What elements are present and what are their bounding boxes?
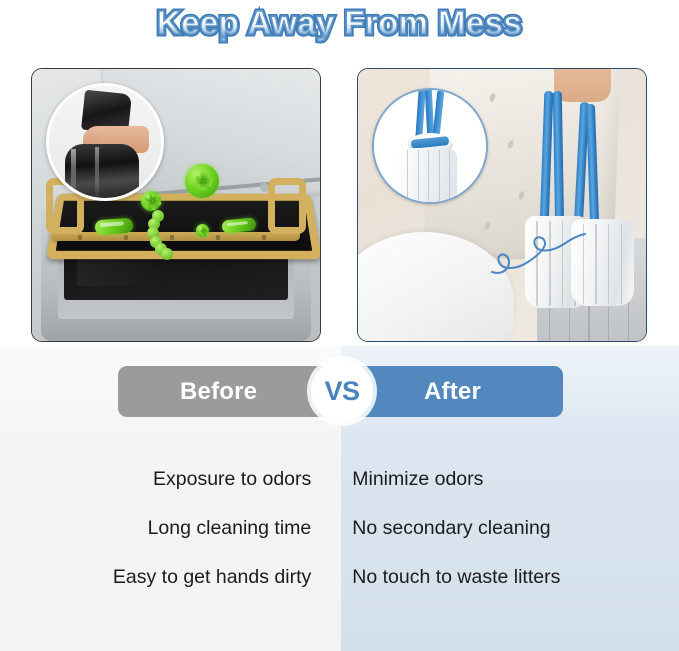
vs-label: VS bbox=[324, 376, 359, 407]
table-row: Exposure to odors Minimize odors bbox=[0, 455, 679, 504]
curly-connector-line bbox=[490, 232, 586, 276]
before-photo-card bbox=[31, 68, 321, 342]
before-label: Before bbox=[180, 378, 257, 406]
before-cell: Long cleaning time bbox=[0, 504, 330, 553]
germ-icon bbox=[185, 164, 219, 198]
after-cell: No secondary cleaning bbox=[330, 504, 679, 553]
after-cell: Minimize odors bbox=[330, 455, 679, 504]
before-cell: Easy to get hands dirty bbox=[0, 553, 330, 602]
table-row: Easy to get hands dirty No touch to wast… bbox=[0, 553, 679, 602]
after-photo-card bbox=[357, 68, 647, 342]
before-cell: Exposure to odors bbox=[0, 455, 330, 504]
comparison-table: Exposure to odors Minimize odors Long cl… bbox=[0, 455, 679, 602]
vs-badge: VS bbox=[311, 360, 373, 422]
page-title: Keep Away From Mess Keep Away From Mess bbox=[0, 0, 679, 46]
after-label: After bbox=[424, 378, 481, 406]
after-inset-photo bbox=[372, 88, 488, 204]
after-photo-image bbox=[358, 69, 646, 341]
bacteria-icon bbox=[95, 217, 134, 235]
frame-handle-right bbox=[268, 178, 306, 234]
before-photo-image bbox=[32, 69, 320, 341]
infographic-canvas: Keep Away From Mess Keep Away From Mess bbox=[0, 0, 679, 651]
after-cell: No touch to waste litters bbox=[330, 553, 679, 602]
hand-icon bbox=[554, 69, 612, 102]
before-inset-photo bbox=[46, 83, 164, 201]
table-row: Long cleaning time No secondary cleaning bbox=[0, 504, 679, 553]
bacteria-chain-icon bbox=[147, 210, 173, 258]
after-label-bar[interactable]: After bbox=[347, 366, 563, 417]
page-title-text: Keep Away From Mess bbox=[157, 3, 522, 43]
